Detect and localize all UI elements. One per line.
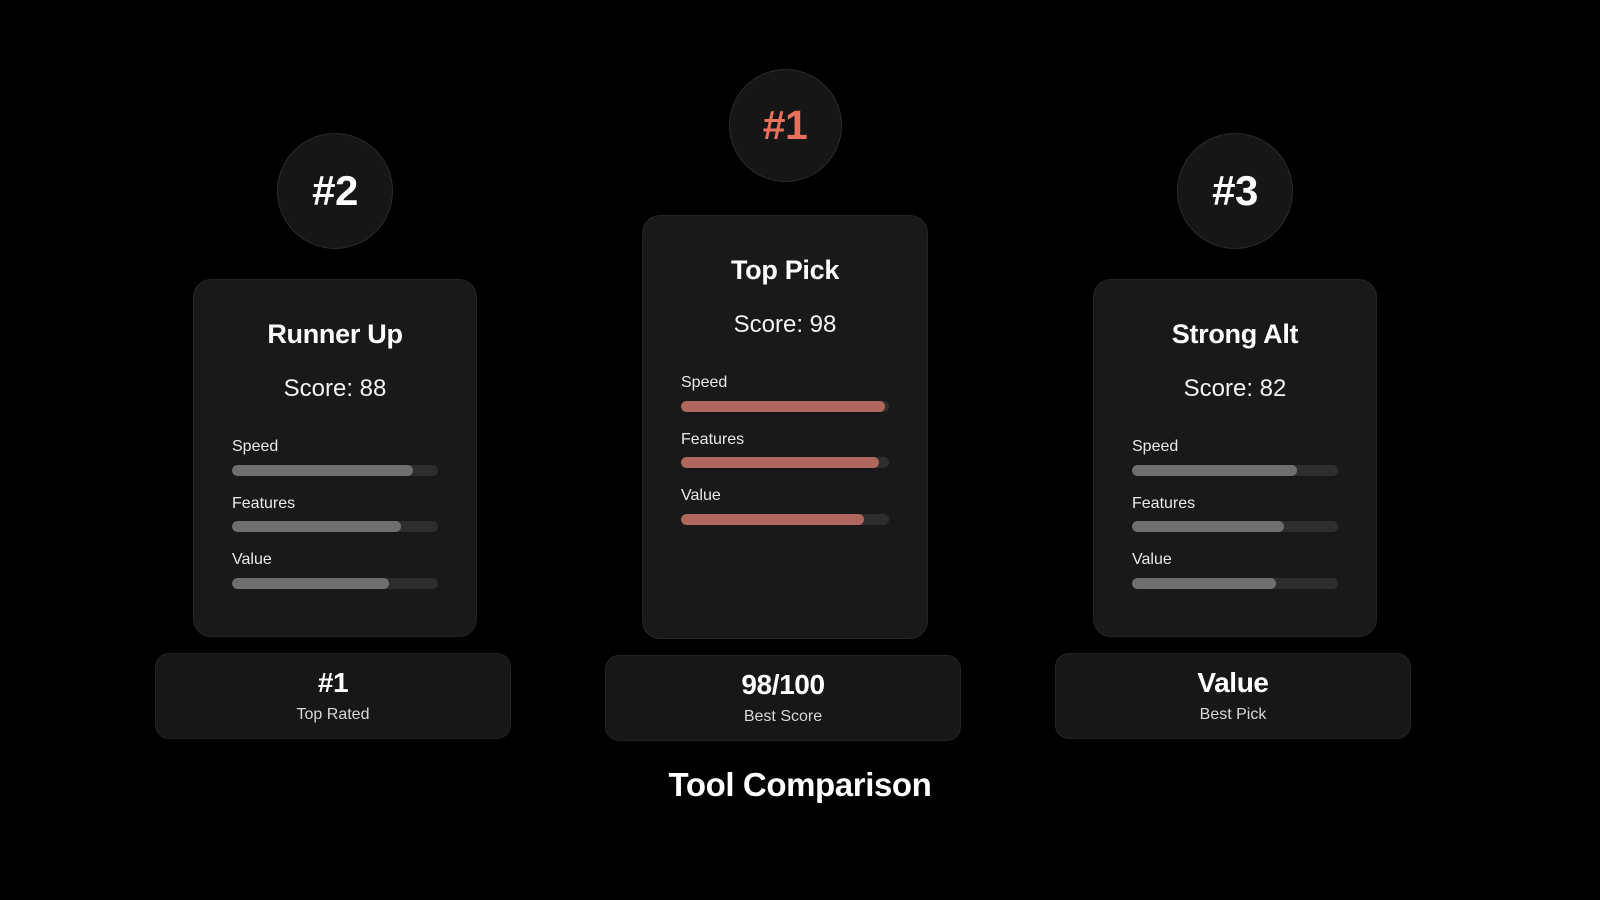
card-score-runner-up: Score: 88 <box>284 350 387 402</box>
comparison-podium: #2 Runner Up Score: 88 Speed Features <box>0 0 1600 900</box>
card-score-strong-alt: Score: 82 <box>1184 350 1287 402</box>
metrics-list-runner-up: Speed Features Value <box>232 402 438 589</box>
stat-value-strong-alt: Value <box>1197 668 1268 699</box>
rank-badge-wrap-1: #1 <box>605 69 965 182</box>
metric-bar-fill-value <box>681 514 864 525</box>
stat-box-runner-up[interactable]: #1 Top Rated <box>155 653 511 739</box>
card-title-strong-alt: Strong Alt <box>1172 320 1298 350</box>
metric-bar-fill-speed <box>1132 465 1297 476</box>
stat-label-strong-alt: Best Pick <box>1200 706 1267 724</box>
rank-badge-wrap-3: #3 <box>1055 133 1415 249</box>
metric-bar-track-speed <box>232 465 438 476</box>
stat-box-strong-alt[interactable]: Value Best Pick <box>1055 653 1411 739</box>
page-title: Tool Comparison <box>0 766 1600 804</box>
product-card-top-pick[interactable]: Top Pick Score: 98 Speed Features Value <box>642 215 928 639</box>
metric-bar-track-value <box>1132 578 1338 589</box>
metric-features: Features <box>1132 495 1338 533</box>
podium-column-runner-up: #2 Runner Up Score: 88 Speed Features <box>155 133 515 739</box>
metric-bar-fill-features <box>681 457 879 468</box>
metric-label-features: Features <box>232 495 438 513</box>
card-title-top-pick: Top Pick <box>731 256 839 286</box>
rank-badge-1[interactable]: #1 <box>729 69 842 182</box>
metric-value: Value <box>232 551 438 589</box>
metric-label-features: Features <box>1132 495 1338 513</box>
metric-label-value: Value <box>232 551 438 569</box>
metric-label-speed: Speed <box>1132 438 1338 456</box>
metric-value: Value <box>1132 551 1338 589</box>
metric-bar-fill-speed <box>232 465 413 476</box>
rank-badge-2[interactable]: #2 <box>277 133 393 249</box>
metric-bar-track-features <box>681 457 889 468</box>
metric-label-value: Value <box>1132 551 1338 569</box>
metric-bar-track-speed <box>681 401 889 412</box>
metrics-list-strong-alt: Speed Features Value <box>1132 402 1338 589</box>
metric-bar-track-speed <box>1132 465 1338 476</box>
product-card-runner-up[interactable]: Runner Up Score: 88 Speed Features Value <box>193 279 477 637</box>
metric-bar-fill-value <box>1132 578 1276 589</box>
podium-column-top-pick: #1 Top Pick Score: 98 Speed Features <box>605 69 965 741</box>
metric-label-speed: Speed <box>681 374 889 392</box>
stat-label-runner-up: Top Rated <box>297 706 370 724</box>
card-title-runner-up: Runner Up <box>267 320 402 350</box>
metric-label-value: Value <box>681 487 889 505</box>
metric-bar-fill-features <box>232 521 401 532</box>
stat-label-top-pick: Best Score <box>744 708 822 726</box>
metric-speed: Speed <box>232 438 438 476</box>
metric-speed: Speed <box>681 374 889 412</box>
metric-bar-fill-features <box>1132 521 1284 532</box>
podium-column-strong-alt: #3 Strong Alt Score: 82 Speed Features <box>1055 133 1415 739</box>
rank-badge-3[interactable]: #3 <box>1177 133 1293 249</box>
rank-badge-wrap-2: #2 <box>155 133 515 249</box>
metric-bar-track-value <box>681 514 889 525</box>
metric-bar-fill-value <box>232 578 389 589</box>
metric-features: Features <box>232 495 438 533</box>
product-card-strong-alt[interactable]: Strong Alt Score: 82 Speed Features Valu… <box>1093 279 1377 637</box>
stat-box-top-pick[interactable]: 98/100 Best Score <box>605 655 961 741</box>
metric-bar-track-features <box>1132 521 1338 532</box>
card-score-top-pick: Score: 98 <box>734 286 837 338</box>
stat-value-top-pick: 98/100 <box>741 670 824 701</box>
metric-label-speed: Speed <box>232 438 438 456</box>
metric-bar-track-features <box>232 521 438 532</box>
metric-bar-fill-speed <box>681 401 885 412</box>
metric-speed: Speed <box>1132 438 1338 476</box>
metric-value: Value <box>681 487 889 525</box>
metric-label-features: Features <box>681 431 889 449</box>
metrics-list-top-pick: Speed Features Value <box>681 338 889 525</box>
metric-features: Features <box>681 431 889 469</box>
stat-value-runner-up: #1 <box>318 668 348 699</box>
metric-bar-track-value <box>232 578 438 589</box>
